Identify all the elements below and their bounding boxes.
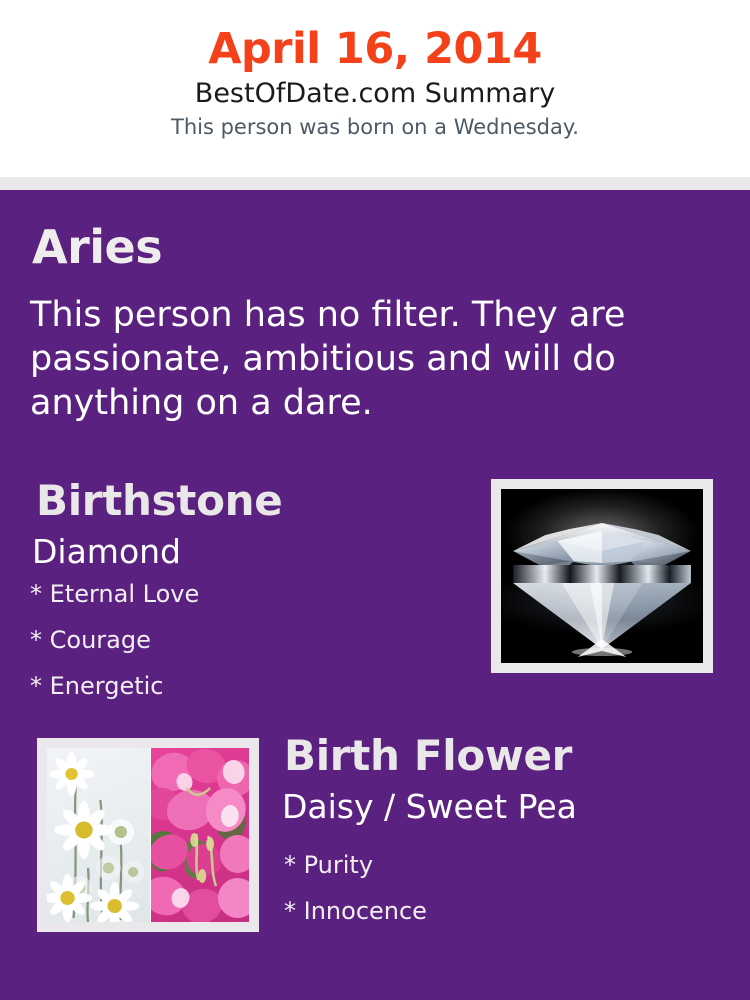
birth-flower-heading: Birth Flower (284, 735, 572, 777)
birthstone-trait-list: * Eternal Love * Courage * Energetic (30, 582, 199, 720)
header-divider (0, 177, 750, 190)
sweet-pea-photo-half (150, 748, 249, 922)
birthstone-image-frame (491, 479, 713, 673)
summary-card: April 16, 2014 BestOfDate.com Summary Th… (0, 0, 750, 1000)
list-item: * Courage (30, 628, 199, 652)
birthstone-heading: Birthstone (36, 480, 282, 522)
daisy-photo-half (47, 748, 150, 922)
card-header: April 16, 2014 BestOfDate.com Summary Th… (0, 0, 750, 177)
details-panel: Aries This person has no filter. They ar… (0, 190, 750, 1000)
daisy-icon (47, 748, 150, 922)
site-summary-label: BestOfDate.com Summary (0, 72, 750, 109)
diamond-icon (501, 489, 703, 663)
page-title-date: April 16, 2014 (0, 0, 750, 72)
zodiac-description: This person has no filter. They are pass… (30, 293, 650, 425)
daisy-sweet-pea-photo (47, 748, 249, 922)
sweet-pea-icon (151, 748, 249, 922)
zodiac-sign-name: Aries (32, 224, 162, 270)
list-item: * Energetic (30, 674, 199, 698)
diamond-photo (501, 489, 703, 663)
day-of-week-line: This person was born on a Wednesday. (0, 110, 750, 139)
list-item: * Eternal Love (30, 582, 199, 606)
birthstone-value: Diamond (32, 535, 181, 568)
list-item: * Innocence (284, 899, 427, 923)
birth-flower-trait-list: * Purity * Innocence (284, 853, 427, 945)
birth-flower-value: Daisy / Sweet Pea (282, 790, 577, 823)
list-item: * Purity (284, 853, 427, 877)
birth-flower-image-frame (37, 738, 259, 932)
